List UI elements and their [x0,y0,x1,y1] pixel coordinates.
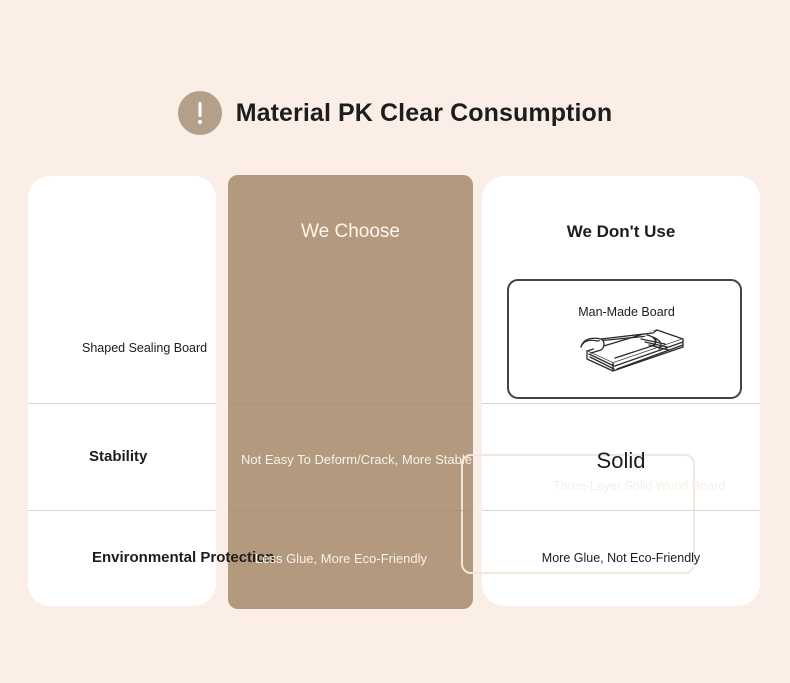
choose-value-stability: Not Easy To Deform/Crack, More Stable [241,452,472,467]
row-label-environmental-protection: Environmental Protection [92,549,275,566]
choose-product-label: Three-Layer Solid Wood Board [553,479,725,493]
row-divider [28,403,216,404]
avoid-product-label: Man-Made Board [509,305,744,319]
row-divider [228,510,473,511]
avoid-column-header: We Don't Use [482,222,760,242]
page-title-row: Material PK Clear Consumption [0,91,790,135]
avoid-value-environmental-protection: More Glue, Not Eco-Friendly [482,551,760,565]
avoid-product-box: Man-Made Board [507,279,742,399]
row-label-shaped-sealing-board: Shaped Sealing Board [82,341,207,355]
row-divider [228,403,473,404]
choose-column-header: We Choose [228,221,473,243]
row-divider [482,403,760,404]
row-label-stability: Stability [89,448,147,465]
row-divider [482,510,760,511]
man-made-board-icon [557,325,687,390]
choose-value-environmental-protection: Less Glue, More Eco-Friendly [255,551,427,566]
comparison-infographic: Material PK Clear Consumption Three-Laye… [0,0,790,683]
avoid-value-stability: Solid [482,448,760,474]
page-title: Material PK Clear Consumption [236,99,613,128]
exclamation-icon [178,91,222,135]
attribute-column-card [28,176,216,606]
row-divider [28,510,216,511]
